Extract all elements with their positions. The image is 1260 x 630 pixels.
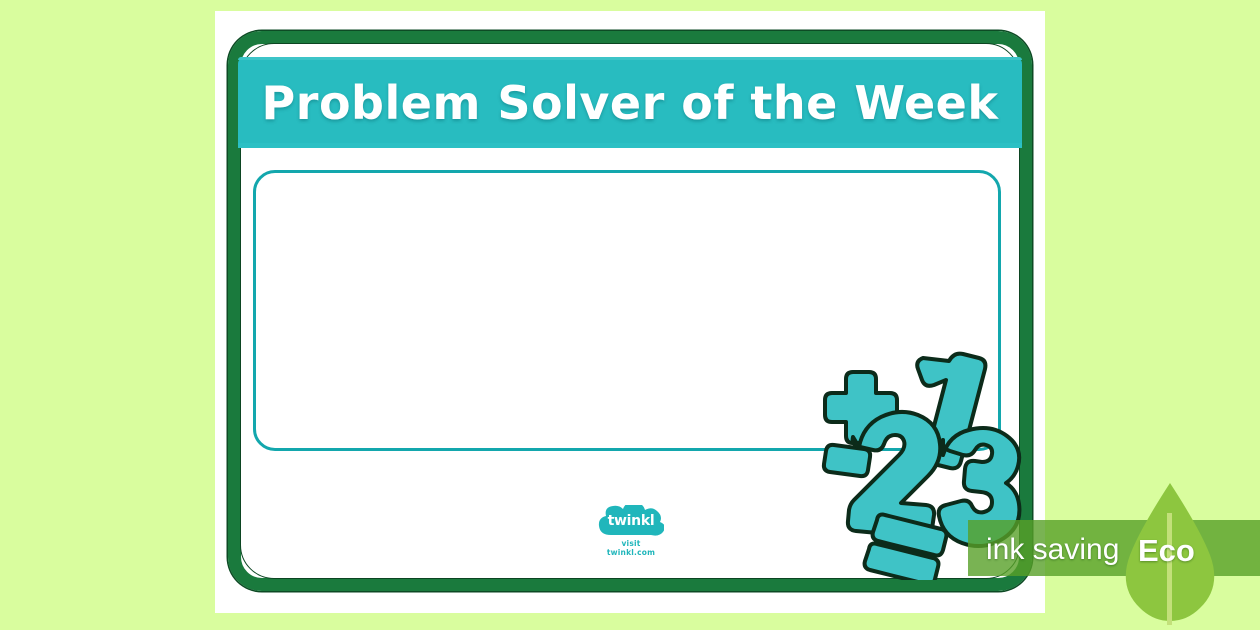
poster-canvas: Problem Solver of the Week bbox=[0, 0, 1260, 630]
eco-label: Eco bbox=[1138, 533, 1195, 569]
eco-badge: ink saving Eco bbox=[968, 479, 1260, 630]
title-banner: Problem Solver of the Week bbox=[238, 57, 1022, 148]
eco-ink-saving-label: ink saving bbox=[986, 533, 1119, 567]
banner-top-edge bbox=[238, 57, 1022, 60]
cloud-icon: twinkl bbox=[598, 505, 664, 536]
twinkl-visit-url: visit twinkl.com bbox=[596, 539, 666, 557]
banner-bottom-edge bbox=[238, 143, 1022, 148]
twinkl-wordmark: twinkl bbox=[598, 513, 664, 529]
twinkl-logo: twinkl visit twinkl.com bbox=[596, 505, 666, 557]
page-title: Problem Solver of the Week bbox=[262, 76, 999, 130]
